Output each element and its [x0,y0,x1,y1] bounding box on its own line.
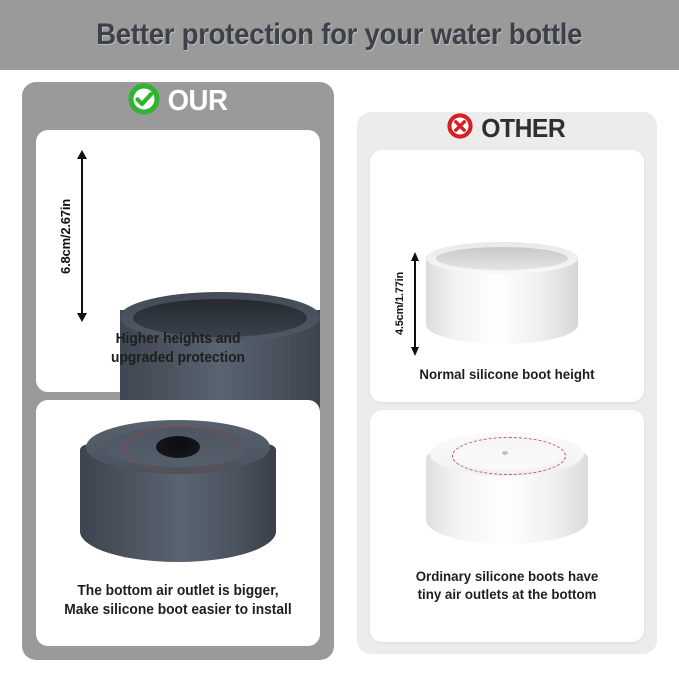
page-title: Better protection for your water bottle [96,18,582,52]
caption-our-air-outlet: The bottom air outlet is bigger, Make si… [43,582,313,619]
measurement-other-height: 4.5cm/1.77in [394,252,421,356]
panel-other-label: OTHER [481,113,565,144]
air-outlet-highlight-ring [452,437,566,475]
card-other-air-outlet: Ordinary silicone boots have tiny air ou… [370,410,644,642]
panel-other-header: OTHER [357,112,657,144]
card-other-height: 4.5cm/1.77in Normal silicone boot height [370,150,644,402]
dimension-arrow-icon [76,150,88,322]
product-image-white-boot-upright [426,242,578,350]
product-image-white-boot-inverted [426,432,588,548]
panel-our: OUR 6.8cm/2.67in Higher heights and [22,82,334,660]
check-circle-icon [128,83,160,120]
panel-other: OTHER 4.5cm/1.77in Normal silicone boot … [357,112,657,654]
measurement-our-height: 6.8cm/2.67in [58,150,88,322]
air-outlet-hole [502,451,508,455]
panel-our-header: OUR [22,82,334,120]
product-image-dark-boot-inverted [80,420,276,572]
dimension-arrow-icon [409,252,421,356]
caption-our-height: Higher heights and upgraded protection [43,330,313,367]
panel-our-label: OUR [167,85,227,118]
x-circle-icon [447,113,473,144]
caption-other-air-outlet: Ordinary silicone boots have tiny air ou… [377,568,637,604]
caption-other-height: Normal silicone boot height [377,366,637,384]
header-bar: Better protection for your water bottle [0,0,679,70]
card-our-air-outlet: The bottom air outlet is bigger, Make si… [36,400,320,646]
air-outlet-hole [156,436,200,458]
card-our-height: 6.8cm/2.67in Higher heights and upgraded… [36,130,320,392]
